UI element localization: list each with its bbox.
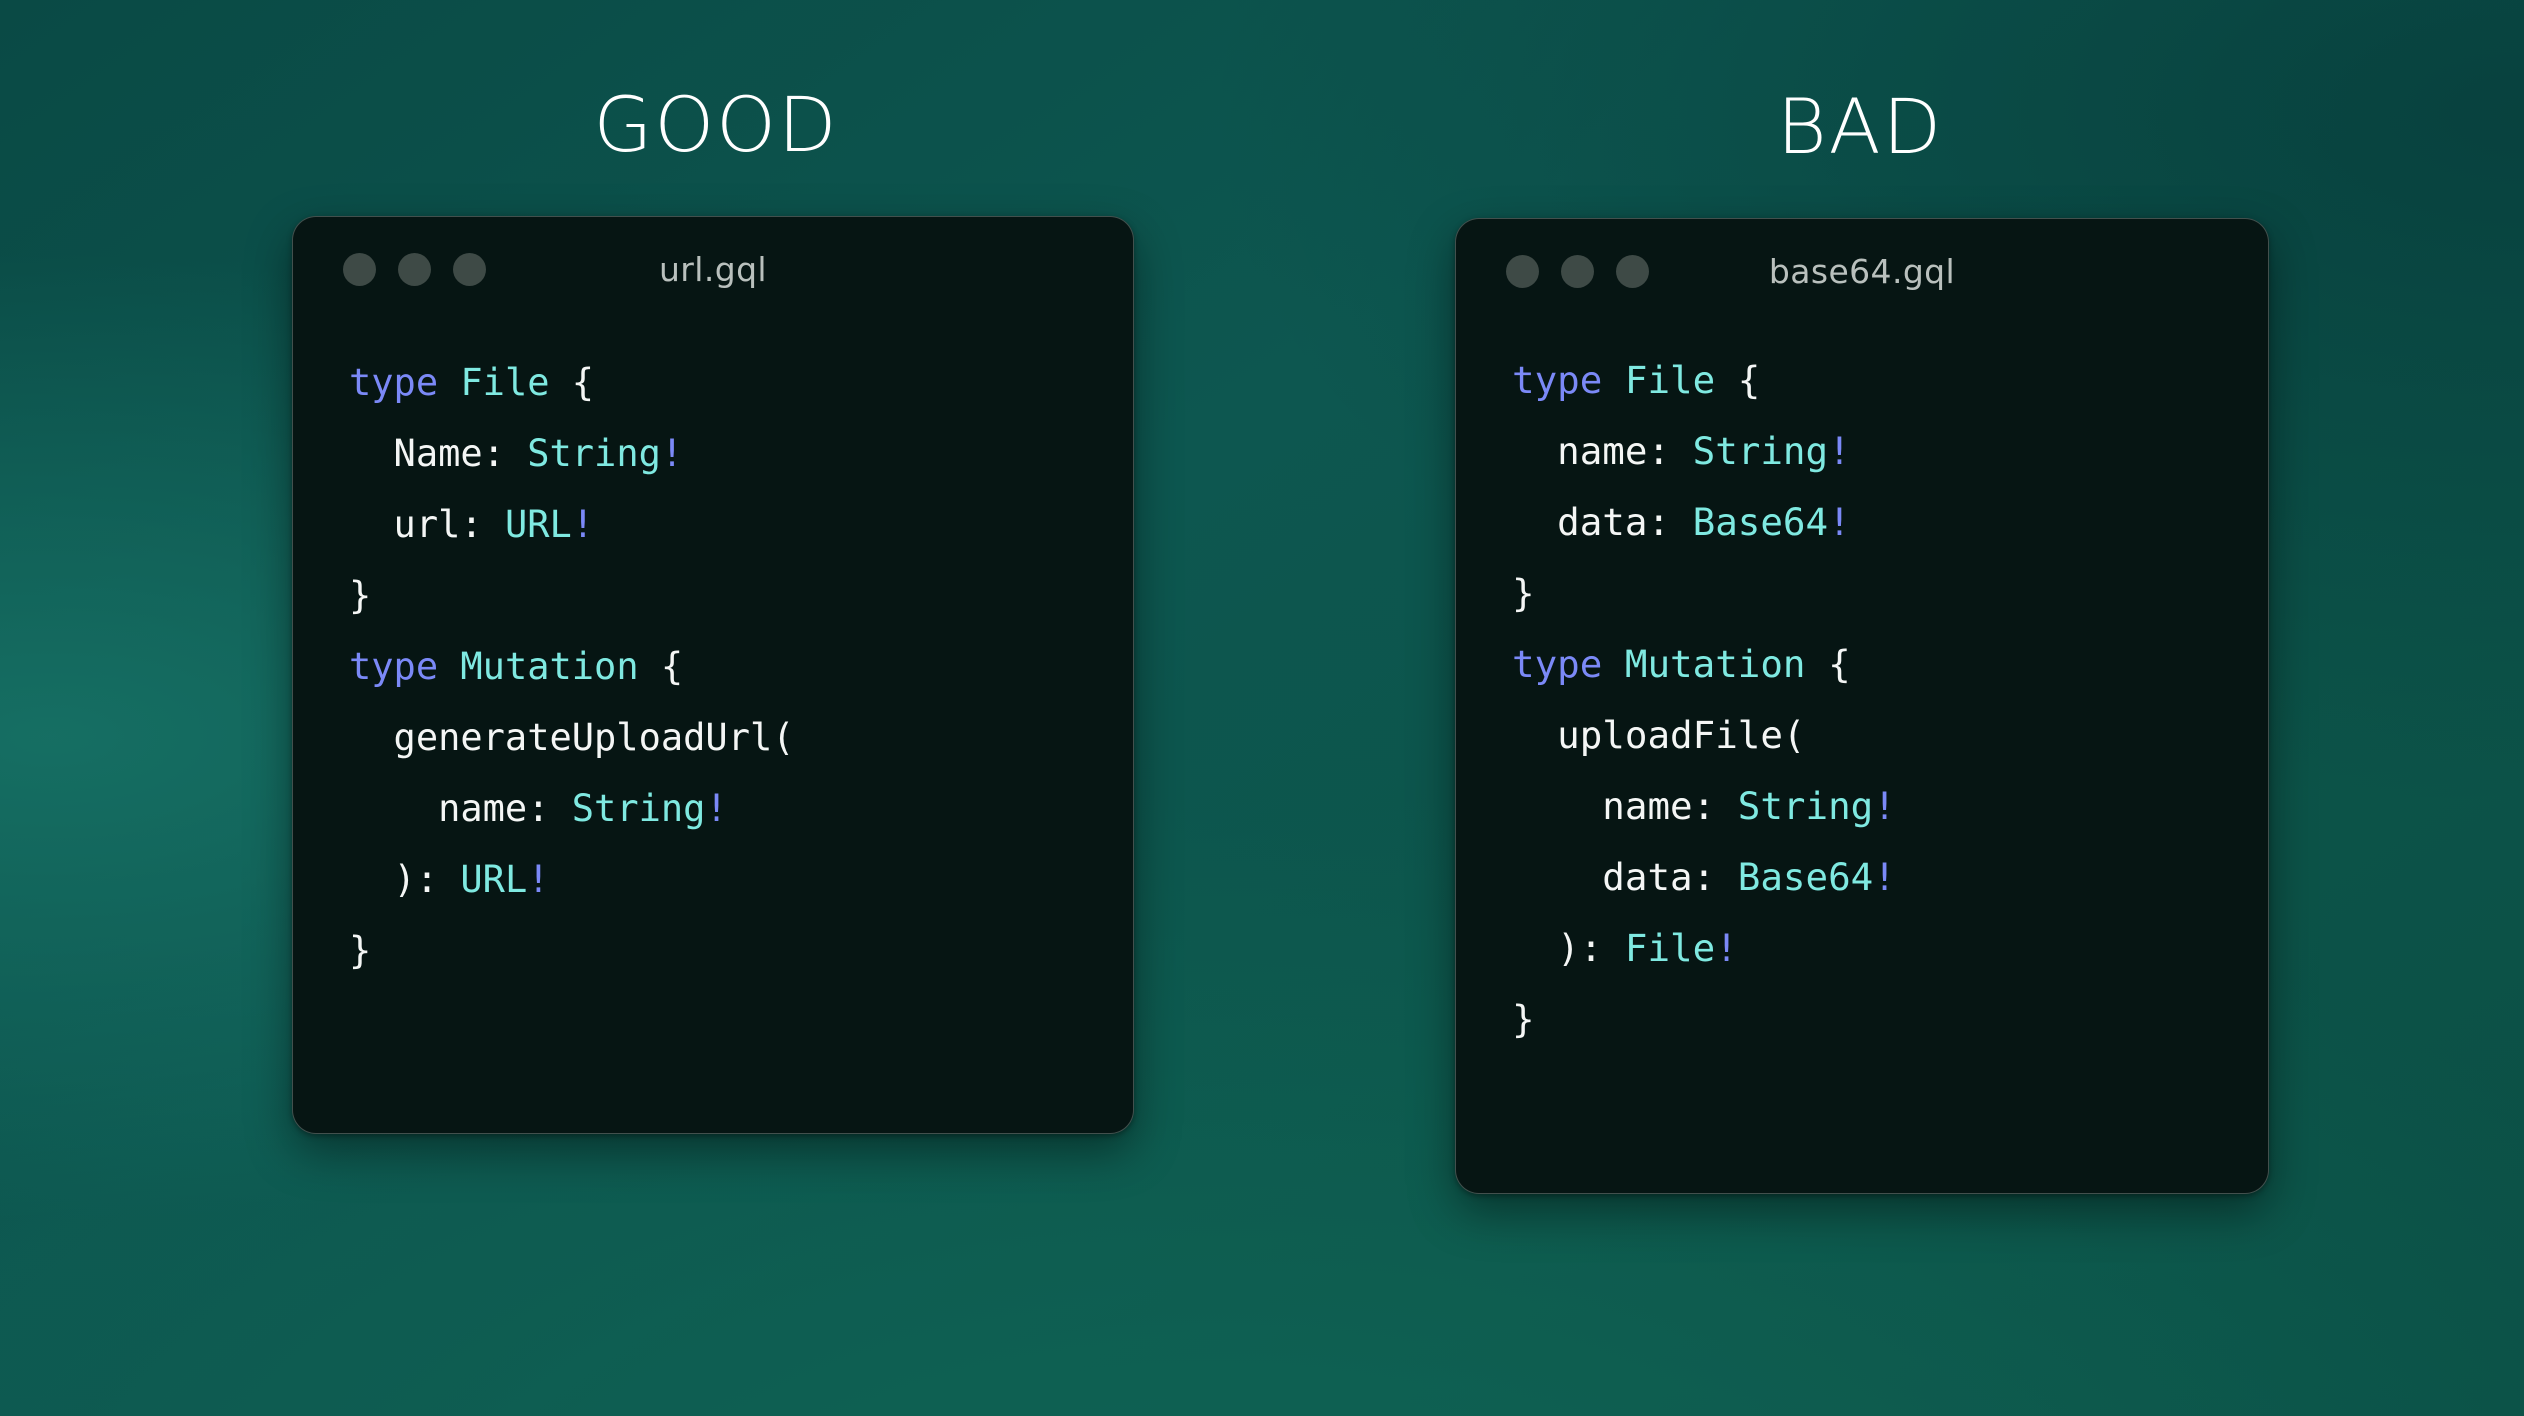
code-token: name: bbox=[349, 787, 572, 830]
code-token bbox=[1602, 642, 1625, 686]
code-line: } bbox=[349, 560, 1133, 631]
code-token: } bbox=[349, 929, 371, 972]
code-token: { bbox=[639, 645, 684, 688]
code-token: ! bbox=[1873, 855, 1896, 899]
minimize-dot-icon[interactable] bbox=[398, 253, 431, 286]
code-token: ): bbox=[349, 858, 460, 901]
code-token: { bbox=[550, 361, 595, 404]
code-token: name: bbox=[1512, 784, 1738, 828]
code-block: type File { Name: String! url: URL! } ty… bbox=[293, 321, 1133, 986]
code-token: Base64 bbox=[1738, 855, 1873, 899]
code-token: { bbox=[1715, 358, 1760, 402]
code-line: } bbox=[349, 915, 1133, 986]
code-line: uploadFile( bbox=[1512, 700, 2268, 771]
code-line: } bbox=[1512, 558, 2268, 629]
code-token: data: bbox=[1512, 855, 1738, 899]
code-token bbox=[1602, 358, 1625, 402]
code-token: type bbox=[1512, 642, 1602, 686]
code-token: ! bbox=[1828, 429, 1851, 473]
code-line: ): File! bbox=[1512, 913, 2268, 984]
code-token: ): bbox=[1512, 926, 1625, 970]
code-token: File bbox=[460, 361, 549, 404]
window-controls bbox=[1506, 255, 1649, 288]
code-token: Mutation bbox=[1625, 642, 1806, 686]
code-block: type File { name: String! data: Base64! … bbox=[1456, 323, 2268, 1055]
code-token: } bbox=[349, 574, 371, 617]
code-token: Name: bbox=[349, 432, 527, 475]
code-line: } bbox=[1512, 984, 2268, 1055]
code-line: data: Base64! bbox=[1512, 842, 2268, 913]
code-token: uploadFile( bbox=[1512, 713, 1806, 757]
code-line: name: String! bbox=[1512, 771, 2268, 842]
maximize-dot-icon[interactable] bbox=[1616, 255, 1649, 288]
code-token: type bbox=[1512, 358, 1602, 402]
code-token: Mutation bbox=[460, 645, 638, 688]
code-line: type Mutation { bbox=[349, 631, 1133, 702]
code-token: Base64 bbox=[1693, 500, 1828, 544]
close-dot-icon[interactable] bbox=[343, 253, 376, 286]
window-titlebar: url.gql bbox=[293, 217, 1133, 321]
code-line: ): URL! bbox=[349, 844, 1133, 915]
code-line: type File { bbox=[349, 347, 1133, 418]
code-token: File bbox=[1625, 358, 1715, 402]
code-line: data: Base64! bbox=[1512, 487, 2268, 558]
code-token bbox=[438, 645, 460, 688]
code-token: URL bbox=[460, 858, 527, 901]
code-line: type File { bbox=[1512, 345, 2268, 416]
minimize-dot-icon[interactable] bbox=[1561, 255, 1594, 288]
code-token: { bbox=[1806, 642, 1851, 686]
code-line: type Mutation { bbox=[1512, 629, 2268, 700]
code-token: generateUploadUrl( bbox=[349, 716, 795, 759]
code-window-good: url.gql type File { Name: String! url: U… bbox=[292, 216, 1134, 1134]
good-column-heading: GOOD bbox=[556, 82, 876, 168]
code-token: ! bbox=[527, 858, 549, 901]
code-token: String bbox=[527, 432, 661, 475]
code-token: ! bbox=[705, 787, 727, 830]
code-window-bad: base64.gql type File { name: String! dat… bbox=[1455, 218, 2269, 1194]
code-token: ! bbox=[1828, 500, 1851, 544]
code-token: String bbox=[1693, 429, 1828, 473]
code-token: ! bbox=[661, 432, 683, 475]
code-token: ! bbox=[1873, 784, 1896, 828]
code-token: url: bbox=[349, 503, 505, 546]
code-token: ! bbox=[1715, 926, 1738, 970]
bad-column-heading: BAD bbox=[1700, 84, 2020, 170]
code-line: name: String! bbox=[349, 773, 1133, 844]
code-line: url: URL! bbox=[349, 489, 1133, 560]
window-titlebar: base64.gql bbox=[1456, 219, 2268, 323]
code-token: data: bbox=[1512, 500, 1693, 544]
code-token: } bbox=[1512, 997, 1535, 1041]
code-token: String bbox=[572, 787, 706, 830]
code-token: name: bbox=[1512, 429, 1693, 473]
code-token: URL bbox=[505, 503, 572, 546]
code-line: Name: String! bbox=[349, 418, 1133, 489]
maximize-dot-icon[interactable] bbox=[453, 253, 486, 286]
close-dot-icon[interactable] bbox=[1506, 255, 1539, 288]
code-token: File bbox=[1625, 926, 1715, 970]
code-token: ! bbox=[572, 503, 594, 546]
code-line: name: String! bbox=[1512, 416, 2268, 487]
code-token: type bbox=[349, 361, 438, 404]
code-token: type bbox=[349, 645, 438, 688]
code-token: } bbox=[1512, 571, 1535, 615]
window-controls bbox=[343, 253, 486, 286]
code-token bbox=[438, 361, 460, 404]
code-token: String bbox=[1738, 784, 1873, 828]
code-line: generateUploadUrl( bbox=[349, 702, 1133, 773]
